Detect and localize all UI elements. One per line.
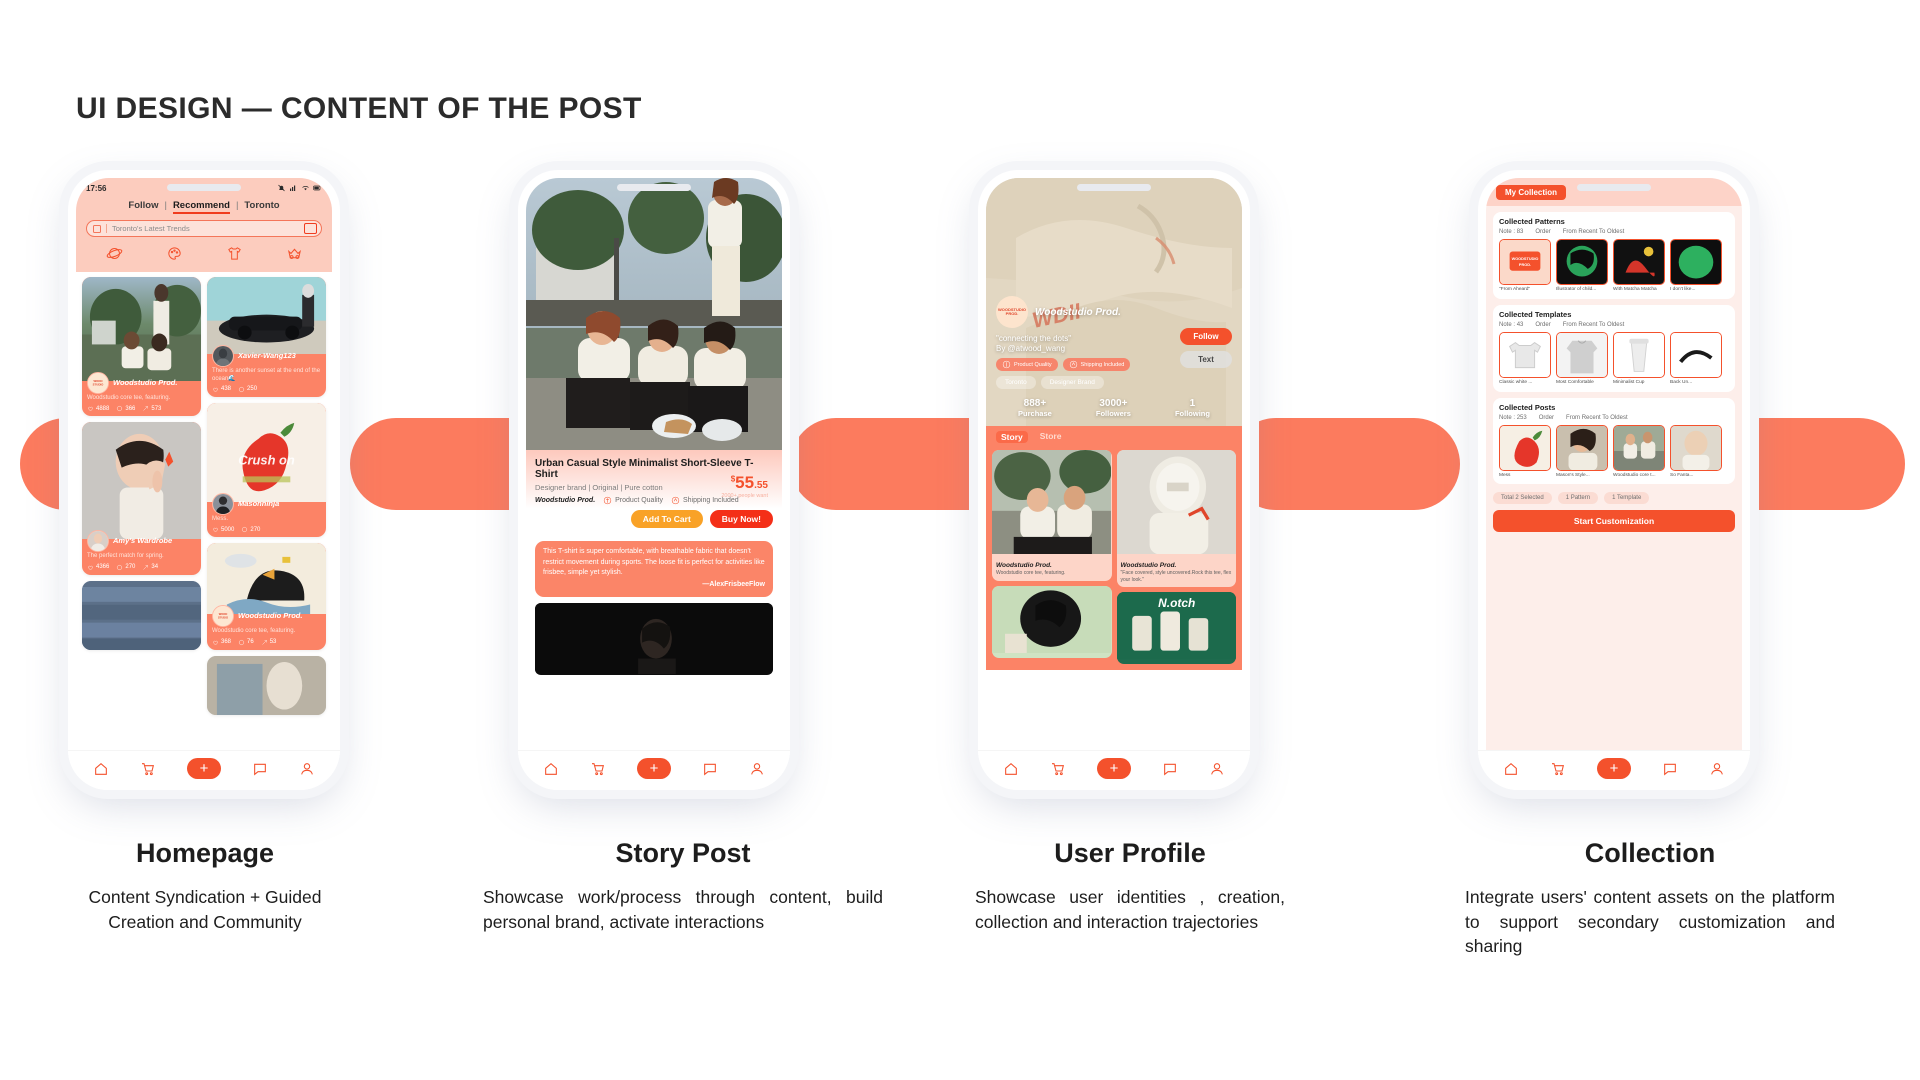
bottom-navigation[interactable]: + (68, 750, 340, 790)
card-body: Masonninja Mess. 5000 270 (207, 502, 326, 537)
svg-text:STUDIO: STUDIO (218, 616, 228, 620)
card-user[interactable]: Amy's Wardrobe (87, 530, 196, 552)
cart-icon[interactable] (140, 761, 156, 777)
tshirt-icon[interactable] (226, 245, 243, 262)
palette-icon[interactable] (166, 245, 183, 262)
caption-title: Homepage (60, 838, 350, 869)
card-body: Amy's Wardrobe The perfect match for spr… (82, 539, 201, 574)
item-caption: Minimalist Cup (1613, 380, 1665, 386)
section-title: Collected Templates (1499, 310, 1729, 319)
post-title: Woodstudio Prod. (996, 562, 1108, 569)
tab-recommend[interactable]: Recommend (173, 200, 230, 214)
item-caption: Mason's Style... (1556, 473, 1608, 479)
card-description: Woodstudio core tee, featuring. (212, 628, 321, 635)
comment-stat[interactable]: 250 (238, 386, 257, 393)
card-image (207, 543, 326, 614)
search-bar[interactable]: Toronto's Latest Trends (86, 220, 322, 237)
post-thumbnail (992, 450, 1111, 554)
profile-banner: WDII WOODSTUDIO PROD. Woodstudio Prod. "… (986, 178, 1242, 426)
item-caption: With Matcha Matcha (1613, 287, 1665, 293)
follow-button[interactable]: Follow (1180, 328, 1232, 345)
cart-icon[interactable] (1550, 761, 1566, 777)
profile-post-card[interactable]: N.otch (1117, 592, 1237, 664)
search-input[interactable]: Toronto's Latest Trends (112, 224, 190, 233)
item-thumbnail[interactable] (1670, 332, 1722, 378)
brand-logo-text: WOODSTUDIO PROD. (996, 308, 1028, 317)
collection-item[interactable]: Mess (1499, 425, 1551, 479)
feed-card[interactable] (82, 581, 201, 650)
profile-post-grid[interactable]: Woodstudio Prod. Woodstudio core tee, fe… (986, 446, 1242, 670)
card-image (82, 581, 201, 650)
section-meta: Note : 83 Order From Recent To Oldest (1499, 229, 1729, 235)
like-stat[interactable]: 4888 (87, 405, 109, 412)
home-icon[interactable] (93, 761, 109, 777)
plus-icon[interactable]: + (1097, 758, 1131, 779)
price-block: $55.55 2000+ people want (721, 474, 768, 499)
add-to-cart-button[interactable]: Add To Cart (631, 510, 703, 528)
bottom-navigation[interactable]: + (518, 750, 790, 790)
tab-store[interactable]: Store (1040, 431, 1062, 443)
card-username[interactable]: Woodstudio Prod. (113, 379, 177, 387)
chat-icon[interactable] (1662, 761, 1678, 777)
card-description: There is another sunset at the end of th… (212, 368, 321, 382)
chat-icon[interactable] (1162, 761, 1178, 777)
feed-card[interactable] (207, 656, 326, 716)
bottom-navigation[interactable]: + (1478, 750, 1750, 790)
battery-icon (313, 184, 322, 192)
caption-story-post: Story Post Showcase work/process through… (483, 838, 883, 934)
caption-collection: Collection Integrate users' content asse… (1465, 838, 1835, 959)
page-title: UI DESIGN — CONTENT OF THE POST (76, 92, 642, 126)
avatar[interactable]: WOODSTUDIO (87, 372, 109, 394)
card-user[interactable]: WOODSTUDIO Woodstudio Prod. (212, 605, 321, 627)
profile-icon[interactable] (299, 761, 315, 777)
phone-notch (1577, 184, 1651, 191)
item-caption: Classic white ... (1499, 380, 1551, 386)
quality-badge: Product Quality (603, 496, 663, 505)
avatar[interactable] (212, 493, 234, 515)
stat-label: Followers (1096, 409, 1131, 418)
collection-item[interactable]: WOODSTUDIOPROD. "From Aheard" (1499, 239, 1551, 293)
order-value[interactable]: From Recent To Oldest (1566, 415, 1628, 421)
post-title: Woodstudio Prod. (1121, 562, 1233, 569)
svg-text:Crush on: Crush on (238, 452, 295, 467)
profile-name: Woodstudio Prod. (1035, 307, 1121, 318)
svg-text:N.otch: N.otch (1158, 596, 1195, 610)
profile-post-card[interactable]: Woodstudio Prod. Woodstudio core tee, fe… (992, 450, 1112, 581)
cart-icon[interactable] (590, 761, 606, 777)
section-meta: Note : 253 Order From Recent To Oldest (1499, 415, 1729, 421)
comment-icon (116, 564, 123, 571)
item-caption: I don't like... (1670, 287, 1722, 293)
collection-section-posts: Collected Posts Note : 253 Order From Re… (1493, 398, 1735, 485)
item-caption: "From Aheard" (1499, 287, 1551, 293)
tab-follow[interactable]: Follow (128, 200, 158, 214)
avatar[interactable] (87, 530, 109, 552)
tab-toronto[interactable]: Toronto (244, 200, 279, 214)
note-count: Note : 83 (1499, 229, 1523, 235)
homepage-header: 17:56 Follow | Recommend | Toronto Toron… (76, 178, 332, 272)
comment-stat[interactable]: 270 (116, 564, 135, 571)
section-items[interactable]: WOODSTUDIOPROD. "From Aheard" Illustrato… (1499, 239, 1729, 293)
item-thumbnail[interactable]: WOODSTUDIOPROD. (1499, 239, 1551, 285)
post-thumbnail: N.otch (1117, 592, 1236, 659)
collection-body[interactable]: Collected Patterns Note : 83 Order From … (1486, 206, 1742, 782)
phone-mockup-homepage: 17:56 Follow | Recommend | Toronto Toron… (68, 170, 340, 790)
product-brand[interactable]: Woodstudio Prod. (535, 497, 595, 504)
wifi-icon (301, 184, 310, 192)
profile-tags: Toronto Designer Brand (996, 376, 1232, 389)
plus-icon[interactable]: + (1597, 758, 1631, 779)
like-stat[interactable]: 438 (212, 386, 231, 393)
tab-separator-1: | (164, 200, 166, 214)
collection-item[interactable]: Illustrator of child... (1556, 239, 1608, 293)
order-label[interactable]: Order (1539, 415, 1554, 421)
feed-card[interactable]: WOODSTUDIO Woodstudio Prod. Woodstudio c… (82, 277, 201, 416)
card-body: Xavier-Wang123 There is another sunset a… (207, 354, 326, 396)
item-thumbnail[interactable] (1499, 332, 1551, 378)
post-meta: Woodstudio Prod. "Face covered, style un… (1117, 559, 1237, 587)
phone-mockup-user-profile: WDII WOODSTUDIO PROD. Woodstudio Prod. "… (978, 170, 1250, 790)
stat-purchase: 888+ Purchase (1018, 398, 1052, 418)
feed-card[interactable]: Amy's Wardrobe The perfect match for spr… (82, 422, 201, 574)
shield-check-icon (1002, 360, 1011, 369)
caption-homepage: Homepage Content Syndication + Guided Cr… (60, 838, 350, 934)
order-value[interactable]: From Recent To Oldest (1563, 322, 1625, 328)
post-thumbnail (1117, 450, 1236, 554)
post-thumbnail (992, 586, 1111, 653)
selected-pattern-chip[interactable]: 1 Pattern (1558, 492, 1598, 504)
card-image (82, 277, 201, 381)
profile-icon[interactable] (1709, 761, 1725, 777)
profile-tabs[interactable]: Story Store (986, 426, 1242, 446)
item-thumbnail[interactable] (1670, 425, 1722, 471)
collection-section-patterns: Collected Patterns Note : 83 Order From … (1493, 212, 1735, 299)
item-thumbnail[interactable] (1670, 239, 1722, 285)
product-actions[interactable]: Add To Cart Buy Now! (535, 510, 773, 528)
comment-stat[interactable]: 366 (116, 405, 135, 412)
profile-post-card[interactable]: Woodstudio Prod. "Face covered, style un… (1117, 450, 1237, 587)
price-decimal: .55 (754, 480, 768, 491)
stat-value: 1 (1175, 398, 1210, 409)
user-profile-screen: WDII WOODSTUDIO PROD. Woodstudio Prod. "… (986, 178, 1242, 782)
item-caption: Illustrator of child... (1556, 287, 1608, 293)
chat-icon[interactable] (702, 761, 718, 777)
cart-icon[interactable] (1050, 761, 1066, 777)
post-video-thumbnail[interactable] (535, 603, 773, 675)
heart-icon (87, 405, 94, 412)
plus-icon[interactable]: + (637, 758, 671, 779)
status-time: 17:56 (86, 184, 106, 193)
card-stats: 438 250 (212, 386, 321, 393)
item-caption: So Fanta... (1670, 473, 1722, 479)
post-subtitle: Woodstudio core tee, featuring. (996, 570, 1108, 576)
comment-stat[interactable]: 270 (241, 526, 260, 533)
quote-text: This T-shirt is super comfortable, with … (543, 548, 765, 575)
profile-overlay: WOODSTUDIO PROD. Woodstudio Prod. "conne… (986, 178, 1242, 426)
item-thumbnail[interactable] (1613, 332, 1665, 378)
quality-chip: Product Quality (996, 358, 1058, 371)
order-value[interactable]: From Recent To Oldest (1563, 229, 1625, 235)
card-user[interactable]: WOODSTUDIO Woodstudio Prod. (87, 372, 196, 394)
quote-author: —AlexFrisbeeFlow (543, 580, 765, 590)
tab-separator-2: | (236, 200, 238, 214)
share-stat[interactable]: 53 (261, 639, 277, 646)
caption-description: Content Syndication + Guided Creation an… (60, 885, 350, 934)
text-button[interactable]: Text (1180, 351, 1232, 368)
item-caption: Mess (1499, 473, 1551, 479)
collection-item[interactable]: I don't like... (1670, 239, 1722, 293)
phone-notch (167, 184, 241, 191)
card-body: WOODSTUDIO Woodstudio Prod. Woodstudio c… (207, 614, 326, 649)
card-description: Mess. (212, 516, 321, 523)
feed-column-right: Xavier-Wang123 There is another sunset a… (207, 277, 326, 782)
homepage-feed[interactable]: WOODSTUDIO Woodstudio Prod. Woodstudio c… (76, 272, 332, 782)
collection-item[interactable]: Back Un... (1670, 332, 1722, 386)
collection-section-templates: Collected Templates Note : 43 Order From… (1493, 305, 1735, 392)
collection-header: My Collection (1486, 178, 1742, 206)
truck-icon (1069, 360, 1078, 369)
item-thumbnail[interactable] (1556, 332, 1608, 378)
grid-column-left: Woodstudio Prod. Woodstudio core tee, fe… (992, 450, 1112, 664)
caption-title: Collection (1465, 838, 1835, 869)
shield-check-icon (603, 496, 612, 505)
caption-description: Showcase user identities , creation, col… (975, 885, 1285, 934)
share-icon (142, 405, 149, 412)
product-info: Urban Casual Style Minimalist Short-Slee… (526, 450, 782, 534)
svg-text:STUDIO: STUDIO (93, 383, 104, 387)
comment-icon (116, 405, 123, 412)
planet-icon[interactable] (106, 245, 123, 262)
brand-logo: WOODSTUDIO PROD. (996, 296, 1028, 328)
section-items[interactable]: Mess Mason's Style... Woodstudio core t.… (1499, 425, 1729, 479)
bell-off-icon (277, 184, 286, 192)
note-count: Note : 43 (1499, 322, 1523, 328)
share-icon (142, 564, 149, 571)
bottom-navigation[interactable]: + (978, 750, 1250, 790)
like-stat[interactable]: 4366 (87, 564, 109, 571)
caption-description: Integrate users' content assets on the p… (1465, 885, 1835, 959)
heart-icon (212, 639, 219, 646)
stat-label: Purchase (1018, 409, 1052, 418)
card-stats: 4888 366 573 (87, 405, 196, 412)
profile-action-buttons[interactable]: Follow Text (1180, 328, 1232, 368)
feed-card[interactable]: WOODSTUDIO Woodstudio Prod. Woodstudio c… (207, 543, 326, 650)
phone-mockup-story-post: Urban Casual Style Minimalist Short-Slee… (518, 170, 790, 790)
card-stats: 4366 270 34 (87, 564, 196, 571)
card-description: Woodstudio core tee, featuring. (87, 395, 196, 402)
share-stat[interactable]: 573 (142, 405, 161, 412)
comment-icon (238, 386, 245, 393)
section-items[interactable]: Classic white ... Most Comfortable Minim… (1499, 332, 1729, 386)
card-body: WOODSTUDIO Woodstudio Prod. Woodstudio c… (82, 381, 201, 416)
start-customization-button[interactable]: Start Customization (1493, 510, 1735, 532)
card-stats: 5000 270 (212, 526, 321, 533)
card-username[interactable]: Amy's Wardrobe (113, 537, 172, 545)
section-meta: Note : 43 Order From Recent To Oldest (1499, 322, 1729, 328)
selection-summary: Total 2 Selected 1 Pattern 1 Template (1493, 490, 1735, 510)
price-note: 2000+ people want (721, 493, 768, 499)
collection-item[interactable]: Woodstudio core t... (1613, 425, 1665, 479)
search-divider (106, 224, 107, 233)
profile-post-card[interactable] (992, 586, 1112, 658)
post-meta: Woodstudio Prod. Woodstudio core tee, fe… (992, 559, 1112, 580)
avatar[interactable]: WOODSTUDIO (212, 605, 234, 627)
tab-story[interactable]: Story (996, 431, 1028, 443)
caption-title: User Profile (975, 838, 1285, 869)
card-image (82, 422, 201, 539)
stat-value: 3000+ (1096, 398, 1131, 409)
section-title: Collected Patterns (1499, 217, 1729, 226)
home-icon[interactable] (543, 761, 559, 777)
item-thumbnail[interactable] (1556, 425, 1608, 471)
note-count: Note : 253 (1499, 415, 1527, 421)
comment-stat[interactable]: 76 (238, 639, 254, 646)
heart-icon (87, 564, 94, 571)
svg-text:WOOD: WOOD (219, 613, 228, 617)
share-stat[interactable]: 34 (142, 564, 158, 571)
item-thumbnail[interactable] (1613, 239, 1665, 285)
caption-description: Showcase work/process through content, b… (483, 885, 883, 934)
truck-icon (671, 496, 680, 505)
phone-notch (617, 184, 691, 191)
svg-text:PROD.: PROD. (1519, 263, 1531, 267)
home-icon[interactable] (1003, 761, 1019, 777)
home-icon[interactable] (1503, 761, 1519, 777)
homepage-tabs[interactable]: Follow | Recommend | Toronto (76, 198, 332, 218)
svg-text:WOODSTUDIO: WOODSTUDIO (1512, 257, 1539, 261)
selected-template-chip[interactable]: 1 Template (1604, 492, 1649, 504)
card-user[interactable]: Xavier-Wang123 (212, 345, 321, 367)
card-image: Crush on (207, 403, 326, 502)
buy-now-button[interactable]: Buy Now! (710, 510, 773, 528)
product-price: $55.55 (721, 474, 768, 491)
card-username[interactable]: Masonninja (238, 500, 279, 508)
profile-icon[interactable] (1209, 761, 1225, 777)
profile-icon[interactable] (749, 761, 765, 777)
share-icon (261, 639, 268, 646)
brand-type-chip[interactable]: Designer Brand (1041, 376, 1104, 389)
item-caption: Woodstudio core t... (1613, 473, 1665, 479)
phone-notch (1077, 184, 1151, 191)
stat-followers[interactable]: 3000+ Followers (1096, 398, 1131, 418)
stat-following[interactable]: 1 Following (1175, 398, 1210, 418)
avatar[interactable] (212, 345, 234, 367)
feed-card[interactable]: Xavier-Wang123 There is another sunset a… (207, 277, 326, 397)
profile-identity: WOODSTUDIO PROD. Woodstudio Prod. (996, 296, 1232, 328)
post-subtitle: "Face covered, style uncovered.Rock this… (1121, 570, 1233, 583)
video-frame (535, 603, 773, 674)
item-caption: Back Un... (1670, 380, 1722, 386)
item-thumbnail[interactable] (1556, 239, 1608, 285)
order-label[interactable]: Order (1535, 229, 1550, 235)
stat-value: 888+ (1018, 398, 1052, 409)
comment-icon (241, 526, 248, 533)
story-post-screen: Urban Casual Style Minimalist Short-Slee… (526, 178, 782, 782)
review-quote: This T-shirt is super comfortable, with … (535, 541, 773, 597)
collection-title: My Collection (1496, 185, 1566, 200)
card-image (207, 656, 326, 716)
chat-icon[interactable] (252, 761, 268, 777)
selected-total-chip[interactable]: Total 2 Selected (1493, 492, 1552, 504)
like-stat[interactable]: 368 (212, 639, 231, 646)
category-row[interactable] (76, 242, 332, 268)
phone-mockup-collection: My Collection Collected Patterns Note : … (1478, 170, 1750, 790)
collection-item[interactable]: With Matcha Matcha (1613, 239, 1665, 293)
item-caption: Most Comfortable (1556, 380, 1608, 386)
caption-title: Story Post (483, 838, 883, 869)
card-username[interactable]: Woodstudio Prod. (238, 612, 302, 620)
card-user[interactable]: Masonninja (212, 493, 321, 515)
shipping-chip: Shipping Included (1063, 358, 1131, 371)
collection-item[interactable]: So Fanta... (1670, 425, 1722, 479)
price-value: 55 (735, 473, 754, 492)
card-stats: 368 76 53 (212, 639, 321, 646)
feed-column-left: WOODSTUDIO Woodstudio Prod. Woodstudio c… (82, 277, 201, 782)
comment-icon (238, 639, 245, 646)
profile-stats: 888+ Purchase 3000+ Followers 1 Followin… (996, 398, 1232, 418)
card-image (207, 277, 326, 354)
collection-item[interactable]: Classic white ... (1499, 332, 1551, 386)
item-thumbnail[interactable] (1613, 425, 1665, 471)
city-chip[interactable]: Toronto (996, 376, 1036, 389)
card-description: The perfect match for spring. (87, 553, 196, 560)
collection-item[interactable]: Most Comfortable (1556, 332, 1608, 386)
heart-icon (212, 526, 219, 533)
card-username[interactable]: Xavier-Wang123 (238, 352, 296, 360)
camera-icon[interactable] (304, 223, 317, 234)
heart-icon (212, 386, 219, 393)
section-title: Collected Posts (1499, 403, 1729, 412)
collection-item[interactable]: Mason's Style... (1556, 425, 1608, 479)
order-label[interactable]: Order (1535, 322, 1550, 328)
homepage-screen: 17:56 Follow | Recommend | Toronto Toron… (76, 178, 332, 782)
like-stat[interactable]: 5000 (212, 526, 234, 533)
stat-label: Following (1175, 409, 1210, 418)
connector-ribbon-3 (1230, 418, 1460, 510)
collection-item[interactable]: Minimalist Cup (1613, 332, 1665, 386)
signal-icon (289, 184, 298, 192)
caption-user-profile: User Profile Showcase user identities , … (975, 838, 1285, 934)
grid-column-right: Woodstudio Prod. "Face covered, style un… (1117, 450, 1237, 664)
collection-screen: My Collection Collected Patterns Note : … (1486, 178, 1742, 782)
list-icon[interactable] (93, 225, 101, 233)
crown-icon[interactable] (286, 245, 303, 262)
item-thumbnail[interactable] (1499, 425, 1551, 471)
post-hero-image (526, 178, 782, 450)
feed-card[interactable]: Crush on Masonninja Mess. 5000 270 (207, 403, 326, 537)
plus-icon[interactable]: + (187, 758, 221, 779)
